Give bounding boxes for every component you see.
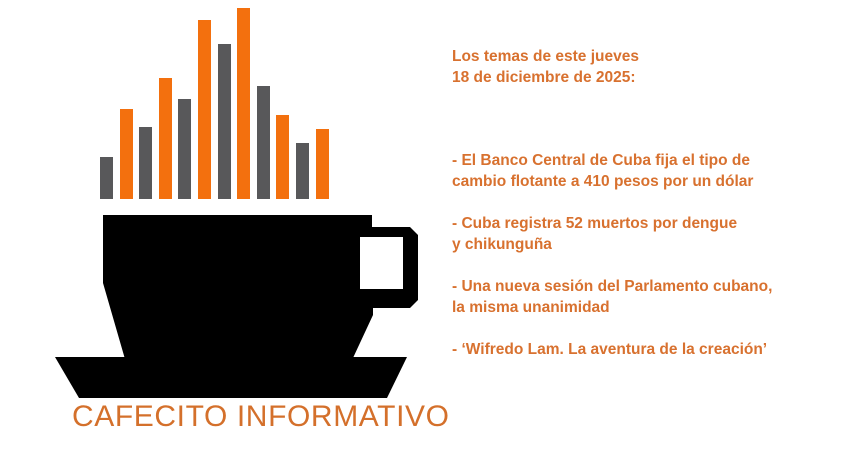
- topics-panel: Los temas de este jueves 18 de diciembre…: [452, 0, 852, 450]
- chart-bar: [139, 127, 152, 199]
- brand-wordmark: CAFECITO INFORMATIVO: [72, 400, 412, 434]
- cafecito-logo-graphic: CAFECITO INFORMATIVO: [0, 0, 430, 450]
- chart-bar: [100, 157, 113, 199]
- headline-date: Los temas de este jueves 18 de diciembre…: [452, 46, 639, 88]
- chart-bar: [237, 8, 250, 199]
- cup-saucer-shape: [55, 357, 407, 398]
- infographic-canvas: CAFECITO INFORMATIVO Los temas de este j…: [0, 0, 860, 450]
- topic-list: - El Banco Central de Cuba fija el tipo …: [452, 150, 844, 360]
- chart-bar: [257, 86, 270, 199]
- list-item: - Una nueva sesión del Parlamento cubano…: [452, 276, 844, 318]
- list-item: - Cuba registra 52 muertos por dengue y …: [452, 213, 844, 255]
- chart-bar: [198, 20, 211, 199]
- cup-handle-hole: [360, 237, 403, 289]
- cup-body-shape: [103, 215, 388, 373]
- chart-bar: [276, 115, 289, 199]
- chart-bar: [120, 109, 133, 199]
- coffee-cup-icon: [36, 205, 426, 405]
- steam-bar-chart: [100, 0, 336, 199]
- coffee-cup-svg: [36, 205, 426, 405]
- chart-bar: [296, 143, 309, 199]
- list-item: - El Banco Central de Cuba fija el tipo …: [452, 150, 844, 192]
- list-item: - ‘Wifredo Lam. La aventura de la creaci…: [452, 339, 844, 360]
- chart-bar: [159, 78, 172, 199]
- chart-bar: [218, 44, 231, 199]
- chart-bar: [178, 99, 191, 199]
- chart-bar: [316, 129, 329, 199]
